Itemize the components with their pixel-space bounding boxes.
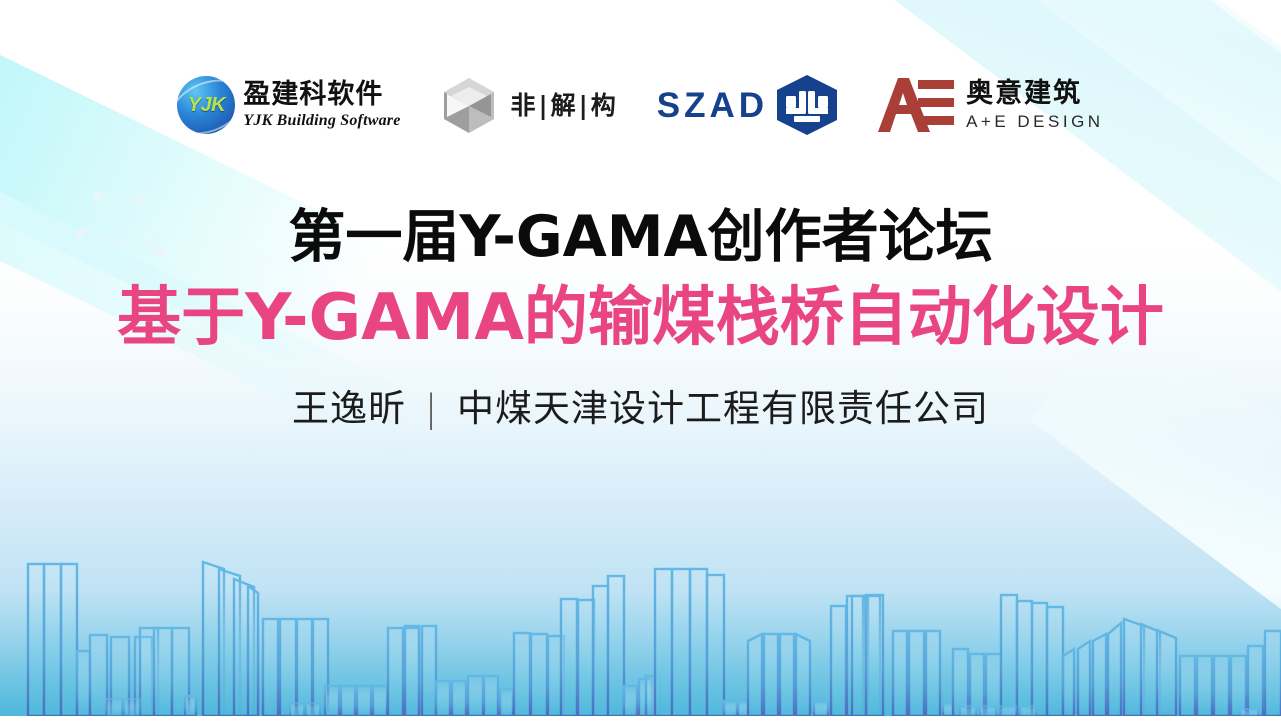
speaker-organization: 中煤天津设计工程有限责任公司: [457, 387, 989, 430]
speaker-byline: 王逸昕 | 中煤天津设计工程有限责任公司: [0, 387, 1281, 431]
logo-yjk-text: 盈建科软件 YJK Building Software: [243, 81, 400, 128]
city-skyline-icon: [0, 531, 1281, 716]
presentation-title-slide: YJK 盈建科软件 YJK Building Software 非|解|构 SZ…: [0, 0, 1281, 721]
logo-yjk: YJK 盈建科软件 YJK Building Software: [177, 74, 400, 136]
ae-monogram-icon: [878, 76, 954, 134]
logo-yjk-name-en: YJK Building Software: [243, 113, 400, 129]
logo-szad: SZAD: [657, 74, 840, 136]
yjk-mark-text: YJK: [177, 76, 235, 134]
speaker-name: 王逸昕: [292, 387, 406, 430]
logo-ae-name-en: A+E DESIGN: [966, 113, 1104, 130]
byline-separator: |: [419, 387, 444, 430]
partner-logo-row: YJK 盈建科软件 YJK Building Software 非|解|构 SZ…: [0, 66, 1281, 144]
title-block: 第一届Y-GAMA创作者论坛 基于Y-GAMA的输煤栈桥自动化设计 王逸昕 | …: [0, 204, 1281, 431]
logo-ae-design: 奥意建筑 A+E DESIGN: [878, 74, 1104, 136]
logo-feijiegou: 非|解|构: [439, 74, 619, 136]
yjk-globe-icon: YJK: [177, 76, 235, 134]
logo-ae-name-cn: 奥意建筑: [966, 80, 1104, 108]
logo-szad-name: SZAD: [657, 88, 768, 123]
forum-title: 第一届Y-GAMA创作者论坛: [0, 204, 1281, 271]
logo-yjk-name-cn: 盈建科软件: [243, 81, 400, 109]
szad-hexagon-icon: [774, 74, 840, 136]
presentation-topic-title: 基于Y-GAMA的输煤栈桥自动化设计: [0, 281, 1281, 357]
cube-icon: [439, 75, 499, 135]
bottom-white-strip: [0, 716, 1281, 721]
logo-feijiegou-name: 非|解|构: [511, 93, 619, 118]
logo-ae-text: 奥意建筑 A+E DESIGN: [966, 80, 1104, 129]
